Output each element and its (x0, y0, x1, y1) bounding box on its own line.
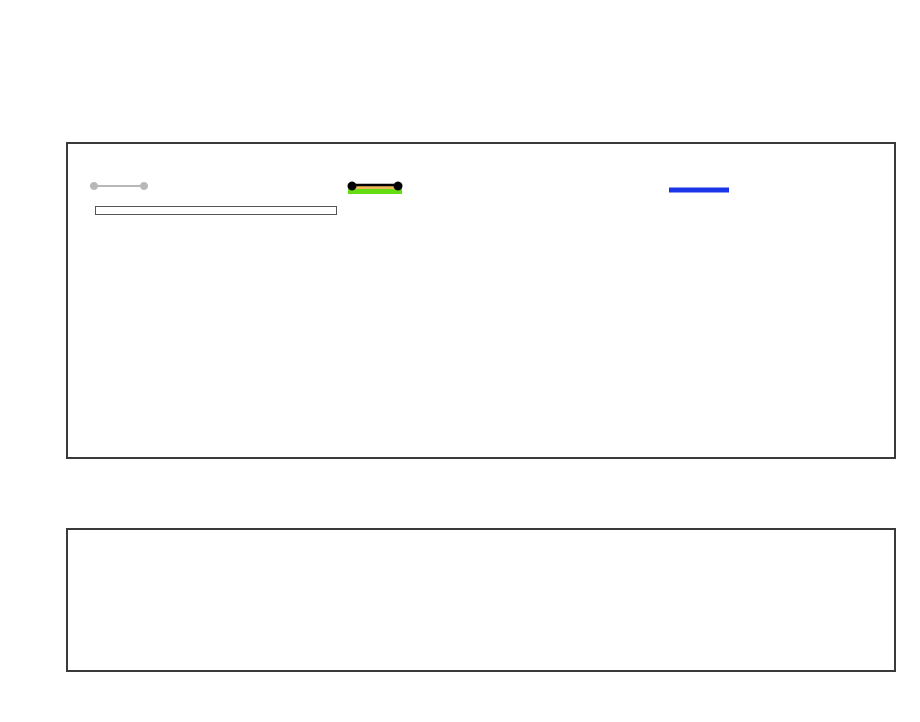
chart-title-block (0, 0, 920, 17)
percent-of-crop-box (95, 206, 337, 215)
bottom-chart-plot (68, 530, 894, 670)
ensemble-average-line-icon (346, 180, 404, 194)
legend-item-normal (668, 176, 739, 195)
bottom-chart-panel (66, 528, 896, 672)
top-chart-plot (68, 144, 894, 457)
chart-page (0, 0, 920, 722)
top-chart-panel (66, 142, 896, 459)
legend-item-ensemble-average (346, 176, 413, 195)
ensemble-members-line-icon (90, 181, 148, 193)
legend-item-ensemble-members (90, 176, 157, 195)
normal-line-icon (668, 181, 730, 193)
subtitle-line-3 (0, 13, 920, 17)
